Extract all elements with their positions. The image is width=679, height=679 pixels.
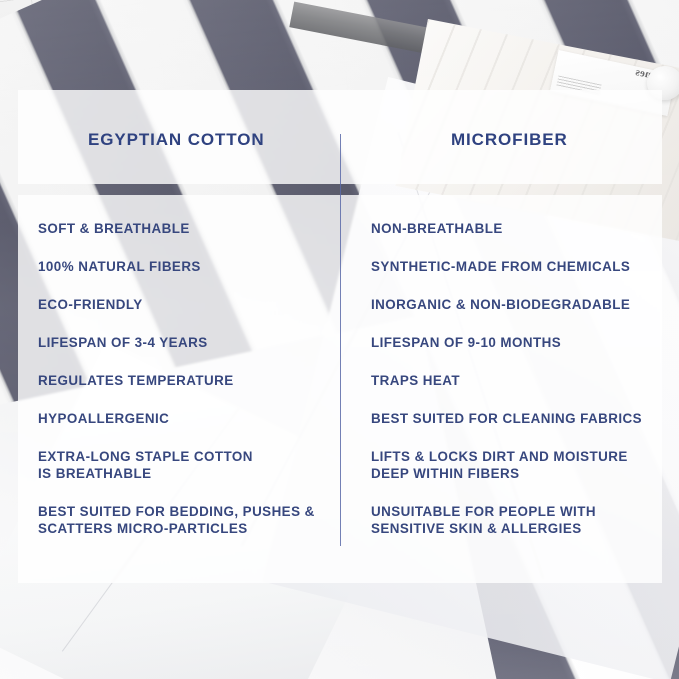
column-heading-microfiber: MICROFIBER	[451, 130, 568, 150]
list-item: INORGANIC & NON-BIODEGRADABLE	[371, 296, 661, 313]
list-item: LIFESPAN OF 9-10 MONTHS	[371, 334, 661, 351]
comparison-infographic: Times EGYPTIAN COTTON MICROFIBER SOFT & …	[0, 0, 679, 679]
list-item: EXTRA-LONG STAPLE COTTON IS BREATHABLE	[38, 448, 328, 482]
list-item: HYPOALLERGENIC	[38, 410, 328, 427]
list-item: BEST SUITED FOR CLEANING FABRICS	[371, 410, 661, 427]
list-item: LIFTS & LOCKS DIRT AND MOISTURE DEEP WIT…	[371, 448, 661, 482]
list-item: REGULATES TEMPERATURE	[38, 372, 328, 389]
column-heading-egyptian-cotton: EGYPTIAN COTTON	[88, 130, 265, 150]
feature-list-microfiber: NON-BREATHABLE SYNTHETIC-MADE FROM CHEMI…	[371, 220, 661, 537]
feature-list-egyptian-cotton: SOFT & BREATHABLE 100% NATURAL FIBERS EC…	[38, 220, 328, 537]
column-divider	[340, 134, 341, 546]
list-item: SOFT & BREATHABLE	[38, 220, 328, 237]
list-item: BEST SUITED FOR BEDDING, PUSHES & SCATTE…	[38, 503, 328, 537]
list-item: TRAPS HEAT	[371, 372, 661, 389]
list-item: 100% NATURAL FIBERS	[38, 258, 328, 275]
list-item: UNSUITABLE FOR PEOPLE WITH SENSITIVE SKI…	[371, 503, 661, 537]
list-item: ECO-FRIENDLY	[38, 296, 328, 313]
list-item: LIFESPAN OF 3-4 YEARS	[38, 334, 328, 351]
list-item: NON-BREATHABLE	[371, 220, 661, 237]
list-item: SYNTHETIC-MADE FROM CHEMICALS	[371, 258, 661, 275]
